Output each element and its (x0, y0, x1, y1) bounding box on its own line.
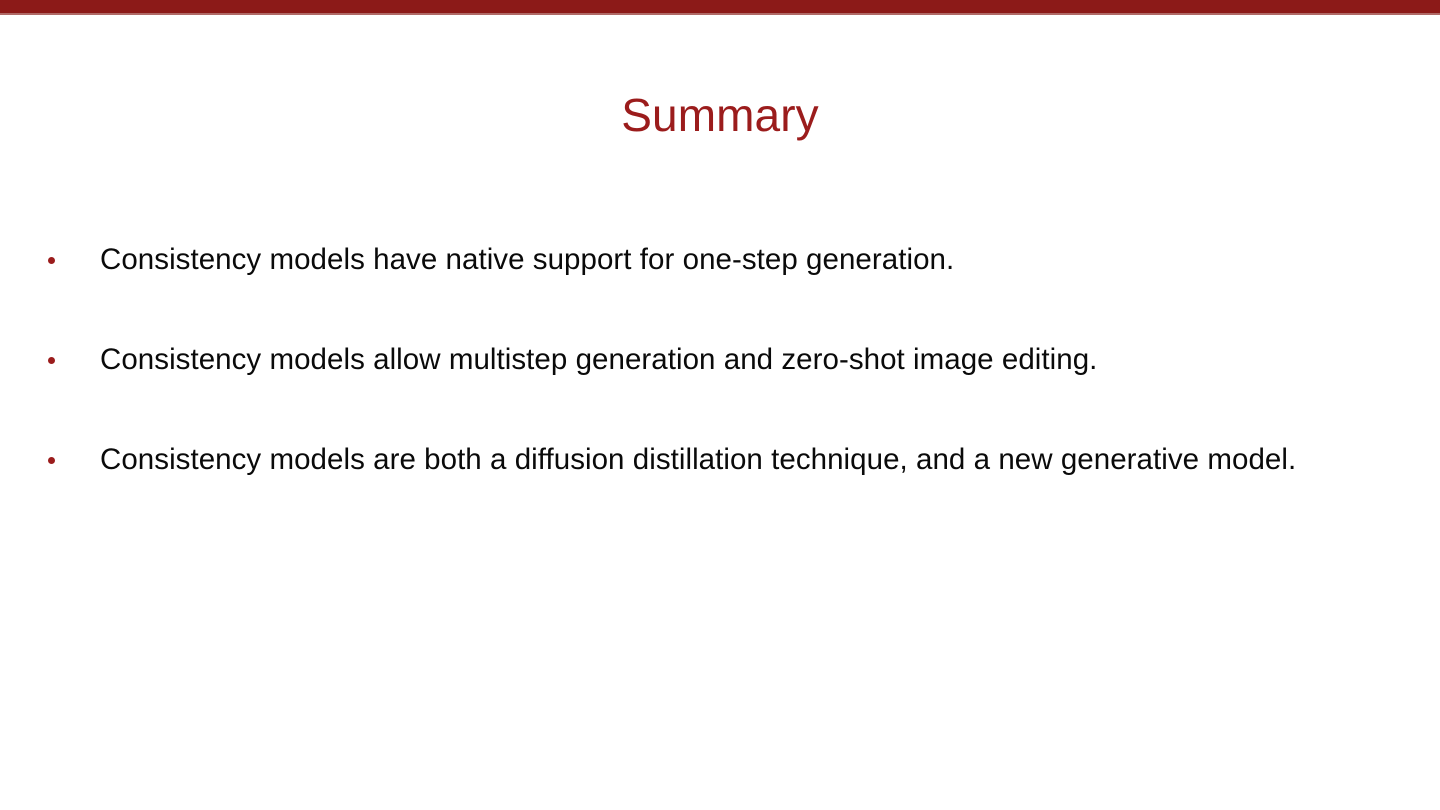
list-item: Consistency models allow multistep gener… (40, 338, 1400, 381)
list-item: Consistency models have native support f… (40, 238, 1400, 281)
bullet-dot-icon (48, 357, 55, 364)
list-item: Consistency models are both a diffusion … (40, 438, 1400, 481)
bullet-dot-icon (48, 457, 55, 464)
list-item-text: Consistency models have native support f… (100, 238, 1400, 281)
page-title: Summary (621, 87, 819, 143)
slide-bullet-list: Consistency models have native support f… (40, 238, 1400, 481)
list-item-text: Consistency models allow multistep gener… (100, 338, 1400, 381)
presentation-slide: Summary Consistency models have native s… (0, 0, 1440, 810)
list-item-text: Consistency models are both a diffusion … (100, 438, 1300, 481)
bullet-dot-icon (48, 257, 55, 264)
slide-top-banner (0, 0, 1440, 13)
slide-title-container: Summary (0, 56, 1440, 174)
slide-top-rule (0, 13, 1440, 15)
